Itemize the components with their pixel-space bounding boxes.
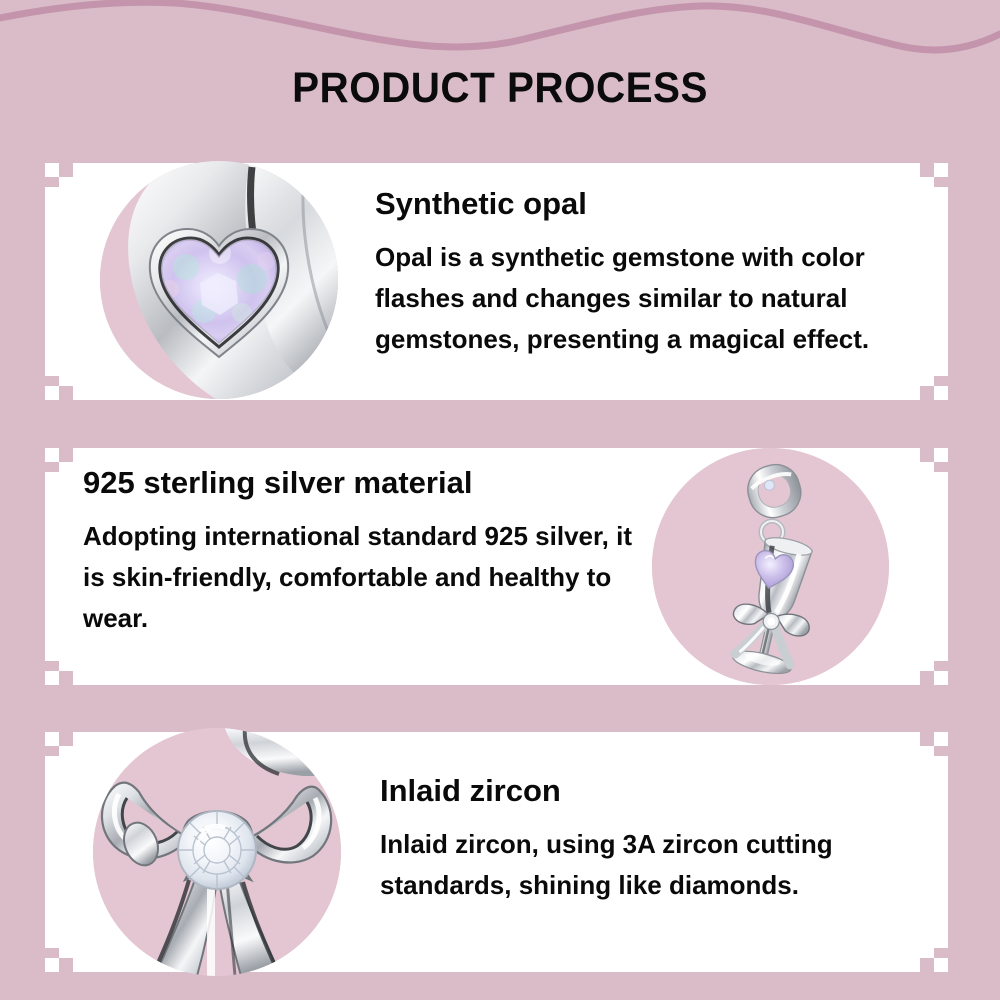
corner-notch-icon: [934, 376, 948, 386]
corner-notch-icon: [920, 671, 934, 685]
card-sterling-silver: 925 sterling silver material Adopting in…: [45, 448, 948, 685]
corner-notch-icon: [59, 448, 73, 462]
card-2-body: Adopting international standard 925 silv…: [83, 516, 643, 639]
champagne-glass-charm-photo: [652, 448, 889, 685]
heart-opal-illustration-icon: [100, 161, 338, 399]
corner-notch-icon: [45, 462, 59, 472]
card-synthetic-opal: Synthetic opal Opal is a synthetic gemst…: [45, 163, 948, 400]
corner-notch-icon: [934, 948, 948, 958]
corner-notch-icon: [934, 462, 948, 472]
corner-notch-icon: [45, 948, 59, 958]
corner-notch-icon: [59, 163, 73, 177]
product-process-infographic: PRODUCT PROCESS: [0, 0, 1000, 1000]
corner-notch-icon: [45, 376, 59, 386]
card-3-text: Inlaid zircon Inlaid zircon, using 3A zi…: [380, 774, 940, 906]
corner-notch-icon: [920, 448, 934, 462]
card-1-heading: Synthetic opal: [375, 187, 935, 221]
bow-zircon-charm-photo: [93, 728, 341, 976]
champagne-glass-charm-illustration-icon: [652, 448, 889, 685]
corner-notch-icon: [920, 958, 934, 972]
corner-notch-icon: [59, 732, 73, 746]
card-2-text: 925 sterling silver material Adopting in…: [83, 466, 643, 639]
wave-shape-icon: [0, 0, 1000, 70]
heart-opal-charm-photo: [100, 161, 338, 399]
corner-notch-icon: [920, 386, 934, 400]
corner-notch-icon: [45, 746, 59, 756]
corner-notch-icon: [45, 661, 59, 671]
bow-zircon-illustration-icon: [93, 728, 341, 976]
card-3-body: Inlaid zircon, using 3A zircon cutting s…: [380, 824, 940, 906]
corner-notch-icon: [934, 661, 948, 671]
wave-top-decoration: [0, 0, 1000, 70]
corner-notch-icon: [59, 671, 73, 685]
corner-notch-icon: [59, 958, 73, 972]
card-3-heading: Inlaid zircon: [380, 774, 940, 808]
card-2-heading: 925 sterling silver material: [83, 466, 643, 500]
card-1-text: Synthetic opal Opal is a synthetic gemst…: [375, 187, 935, 360]
card-inlaid-zircon: Inlaid zircon Inlaid zircon, using 3A zi…: [45, 732, 948, 972]
corner-notch-icon: [45, 177, 59, 187]
corner-notch-icon: [934, 746, 948, 756]
card-1-body: Opal is a synthetic gemstone with color …: [375, 237, 935, 360]
page-title: PRODUCT PROCESS: [30, 64, 970, 113]
corner-notch-icon: [920, 163, 934, 177]
corner-notch-icon: [920, 732, 934, 746]
corner-notch-icon: [59, 386, 73, 400]
corner-notch-icon: [934, 177, 948, 187]
